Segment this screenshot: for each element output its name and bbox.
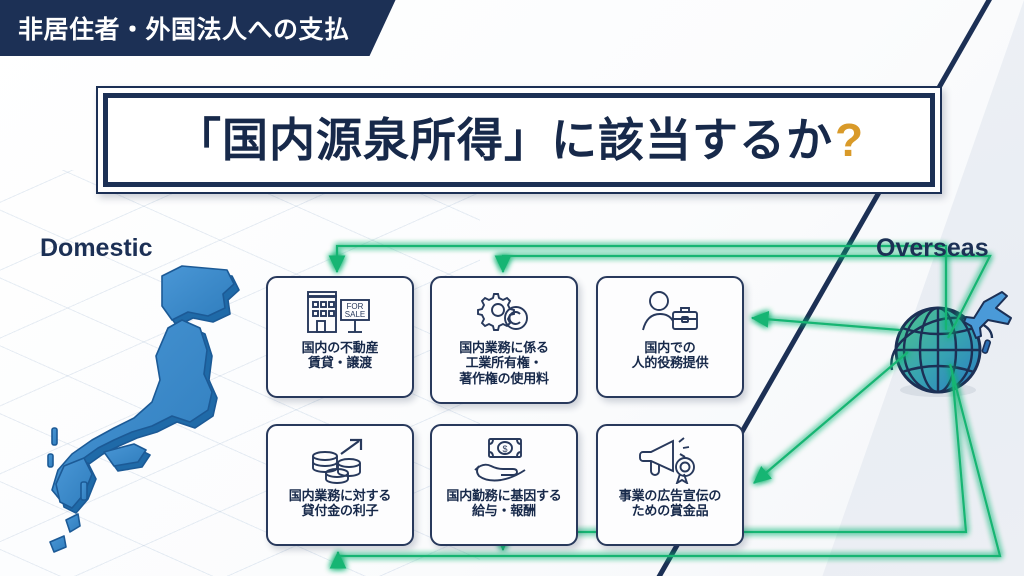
card-caption-line2: 賃貸・譲渡: [302, 355, 379, 370]
question-mark: ?: [835, 113, 863, 167]
person-briefcase-icon: [637, 287, 703, 337]
card-caption: 事業の広告宣伝の ための賞金品: [616, 488, 724, 519]
card-domestic-real-estate[interactable]: FOR SALE 国内の不動産 賃貸・譲渡: [266, 276, 414, 398]
card-caption-line1: 国内勤務に基因する: [446, 488, 561, 503]
card-caption-line2: 人的役務提供: [632, 355, 709, 370]
header-banner: 非居住者・外国法人への支払: [0, 0, 396, 56]
japan-map-3d-icon: [22, 250, 262, 570]
card-caption-line1: 国内の不動産: [302, 340, 379, 355]
svg-text:$: $: [502, 444, 507, 454]
header-banner-text: 非居住者・外国法人への支払: [18, 10, 350, 46]
label-overseas: Overseas: [876, 234, 989, 263]
card-caption: 国内での 人的役務提供: [629, 340, 712, 371]
card-caption: 国内業務に対する 貸付金の利子: [286, 488, 394, 519]
card-caption-line2: 貸付金の利子: [289, 503, 391, 518]
card-caption-line2: 給与・報酬: [446, 503, 561, 518]
card-caption: 国内の不動産 賃貸・譲渡: [299, 340, 382, 371]
card-industrial-property-royalty[interactable]: 国内業務に係る 工業所有権・ 著作権の使用料: [430, 276, 578, 404]
card-caption-line3: 著作権の使用料: [459, 371, 549, 386]
page-title: 「国内源泉所得」に該当するか: [175, 117, 833, 163]
slide-root: 非居住者・外国法人への支払 「国内源泉所得」に該当するか ? Domestic …: [0, 0, 1024, 576]
card-caption-line1: 国内業務に対する: [289, 488, 391, 503]
card-personal-services[interactable]: 国内での 人的役務提供: [596, 276, 744, 398]
card-caption-line1: 国内での: [632, 340, 709, 355]
card-caption-line1: 国内業務に係る: [459, 340, 549, 355]
gear-copyright-icon: [472, 287, 536, 337]
globe-airplane-icon: [880, 278, 1020, 410]
megaphone-award-icon: [635, 435, 705, 485]
card-caption: 国内業務に係る 工業所有権・ 著作権の使用料: [456, 340, 552, 386]
card-caption-line1: 事業の広告宣伝の: [619, 488, 721, 503]
svg-text:SALE: SALE: [345, 310, 365, 319]
coins-growth-icon: [307, 435, 373, 485]
title-box: 「国内源泉所得」に該当するか ?: [96, 86, 942, 194]
card-caption-line2: 工業所有権・: [459, 355, 549, 370]
card-caption: 国内勤務に基因する 給与・報酬: [443, 488, 564, 519]
card-caption-line2: ための賞金品: [619, 503, 721, 518]
card-advertising-prize[interactable]: 事業の広告宣伝の ための賞金品: [596, 424, 744, 546]
title-box-inner: 「国内源泉所得」に該当するか ?: [103, 93, 935, 187]
card-salary-remuneration[interactable]: $ 国内勤務に基因する 給与・報酬: [430, 424, 578, 546]
card-loan-interest[interactable]: 国内業務に対する 貸付金の利子: [266, 424, 414, 546]
label-domestic: Domestic: [40, 234, 153, 263]
hand-money-icon: $: [469, 435, 539, 485]
building-for-sale-icon: FOR SALE: [303, 287, 377, 337]
